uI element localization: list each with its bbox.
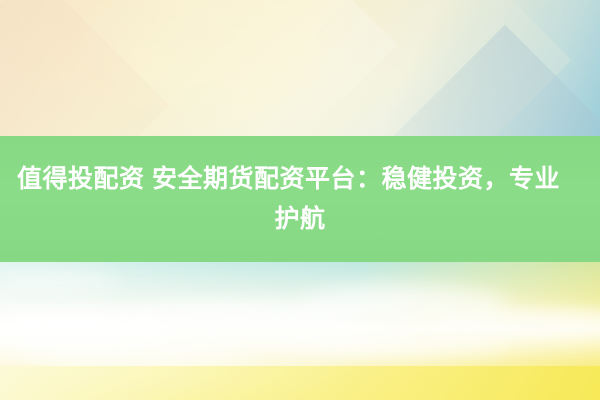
promo-banner: 值得投配资 安全期货配资平台：稳健投资，专业 护航 [0,0,600,400]
bottom-sky-zone [0,262,600,400]
green-headline-band: 值得投配资 安全期货配资平台：稳健投资，专业 护航 [0,136,600,262]
sky-tint-overlay [0,262,600,400]
top-gradient-zone [0,0,600,136]
headline-line-2: 护航 [274,199,325,239]
headline-container: 值得投配资 安全期货配资平台：稳健投资，专业 护航 [0,136,600,262]
headline-line-1: 值得投配资 安全期货配资平台：稳健投资，专业 [0,159,560,199]
